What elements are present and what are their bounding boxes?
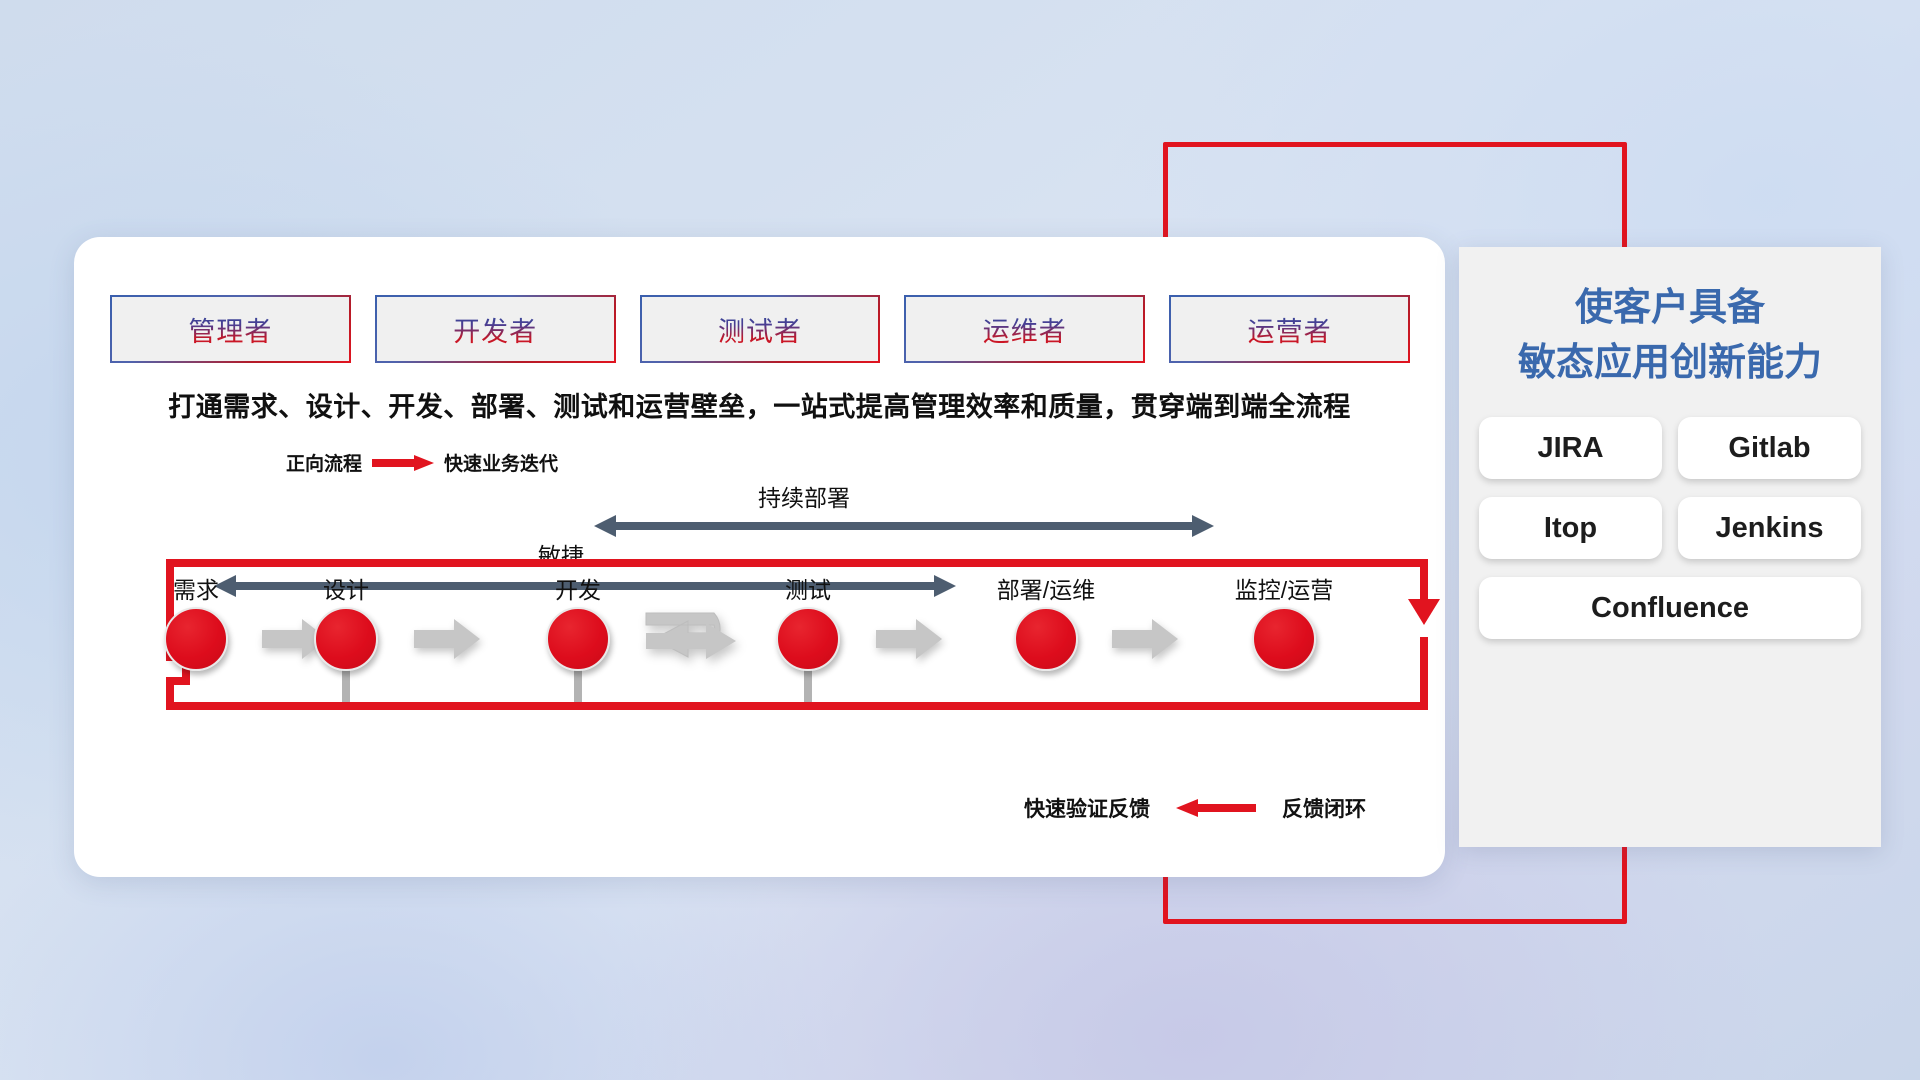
- role-label: 运营者: [1248, 310, 1332, 349]
- stage-circle: [776, 607, 840, 671]
- legend-forward-flow: 正向流程 快速业务迭代: [286, 449, 558, 476]
- role-box-ops[interactable]: 运维者: [904, 295, 1145, 363]
- loop-line-top: [166, 559, 1428, 567]
- stage-develop[interactable]: 开发: [546, 607, 610, 671]
- stage-circle: [1252, 607, 1316, 671]
- role-boxes-row: 管理者 开发者 测试者 运维者 运营者: [110, 295, 1410, 363]
- role-label: 开发者: [453, 310, 537, 349]
- stage-design[interactable]: 设计: [314, 607, 378, 671]
- role-label: 测试者: [718, 310, 802, 349]
- arrow-left-red-icon: [1176, 799, 1256, 817]
- loop-line-right-lower: [1420, 637, 1428, 710]
- arrow-head-right: [1192, 515, 1214, 537]
- diagram-canvas: 管理者 开发者 测试者 运维者 运营者 打通需求、设计、开发、部署、测试和运营壁…: [0, 0, 1920, 1080]
- role-label: 运维者: [983, 310, 1067, 349]
- arrow-head-right: [934, 575, 956, 597]
- main-card: 管理者 开发者 测试者 运维者 运营者 打通需求、设计、开发、部署、测试和运营壁…: [74, 237, 1445, 877]
- description-text: 打通需求、设计、开发、部署、测试和运营壁垒，一站式提高管理效率和质量，贯穿端到端…: [74, 385, 1445, 424]
- arrow-right-red-icon: [372, 455, 434, 471]
- stage-label: 需求: [173, 571, 219, 605]
- arrow-head-left: [594, 515, 616, 537]
- stage-label: 开发: [555, 571, 601, 605]
- role-box-manager[interactable]: 管理者: [110, 295, 351, 363]
- role-box-operations[interactable]: 运营者: [1169, 295, 1410, 363]
- side-panel-title: 使客户具备 敏态应用创新能力: [1459, 281, 1881, 391]
- stage-circle: [546, 607, 610, 671]
- role-label: 管理者: [188, 310, 272, 349]
- role-box-tester[interactable]: 测试者: [640, 295, 881, 363]
- role-box-developer[interactable]: 开发者: [375, 295, 616, 363]
- stage-deploy-ops[interactable]: 部署/运维: [1014, 607, 1078, 671]
- span-label-continuous-deployment: 持续部署: [758, 479, 850, 513]
- side-panel: 使客户具备 敏态应用创新能力 JIRA Gitlab Itop Jenkins …: [1459, 247, 1881, 847]
- chevron-arrow-2-icon: [414, 619, 480, 659]
- stage-circle: [314, 607, 378, 671]
- stage-circle: [1014, 607, 1078, 671]
- stage-label: 部署/运维: [997, 571, 1095, 605]
- legend-feedback-loop: 快速验证反馈 反馈闭环: [1024, 793, 1366, 823]
- tool-chip-gitlab[interactable]: Gitlab: [1678, 417, 1861, 479]
- side-panel-title-line2: 敏态应用创新能力: [1459, 336, 1881, 391]
- stage-label: 设计: [323, 571, 369, 605]
- stage-label: 测试: [785, 571, 831, 605]
- tool-chip-jenkins[interactable]: Jenkins: [1678, 497, 1861, 559]
- double-arrow-continuous-deployment-icon: [594, 515, 1214, 537]
- stage-requirement[interactable]: 需求: [164, 607, 228, 671]
- legend-feedback-right-label: 反馈闭环: [1282, 793, 1366, 823]
- stage-circle: [164, 607, 228, 671]
- loop-line-bottom: [166, 702, 1428, 710]
- stage-label: 监控/运营: [1235, 571, 1333, 605]
- loop-arrow-head-down-icon: [1408, 599, 1440, 625]
- tool-chip-confluence[interactable]: Confluence: [1479, 577, 1861, 639]
- legend-forward-right-label: 快速业务迭代: [444, 449, 558, 476]
- legend-forward-left-label: 正向流程: [286, 449, 362, 476]
- arrow-bar: [614, 522, 1194, 530]
- tool-chip-itop[interactable]: Itop: [1479, 497, 1662, 559]
- legend-feedback-left-label: 快速验证反馈: [1024, 793, 1150, 823]
- cycle-loop-arrow-icon: [644, 603, 754, 679]
- chevron-arrow-3-icon: [876, 619, 942, 659]
- tool-chips-grid: JIRA Gitlab Itop Jenkins Confluence: [1479, 417, 1861, 639]
- side-panel-title-line1: 使客户具备: [1459, 281, 1881, 336]
- stage-monitor-operate[interactable]: 监控/运营: [1252, 607, 1316, 671]
- stage-test[interactable]: 测试: [776, 607, 840, 671]
- tool-chip-jira[interactable]: JIRA: [1479, 417, 1662, 479]
- chevron-arrow-4-icon: [1112, 619, 1178, 659]
